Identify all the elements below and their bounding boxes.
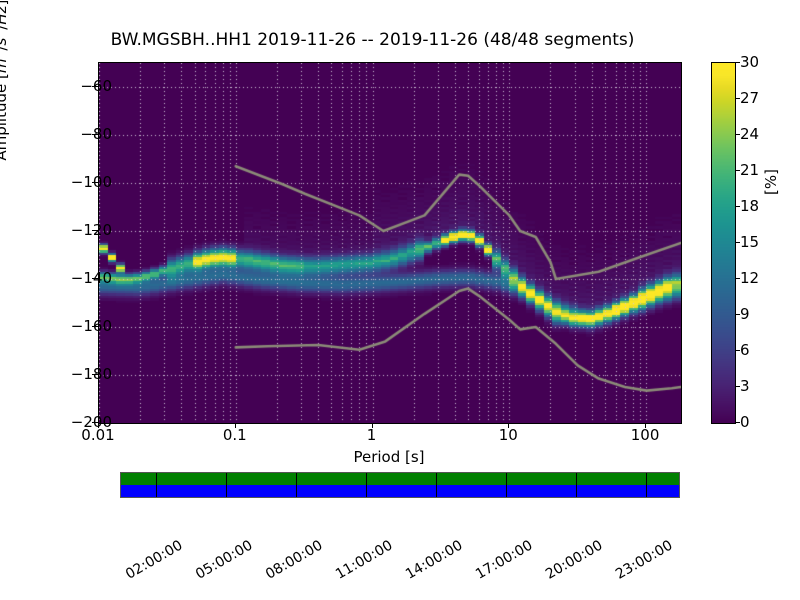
x-axis-tick-mark bbox=[372, 423, 373, 428]
timeline-tick-label: 20:00:00 bbox=[543, 537, 605, 582]
y-axis-tick-mark bbox=[92, 86, 98, 87]
y-axis-tick-mark bbox=[92, 182, 98, 183]
data-coverage-timeline[interactable] bbox=[120, 472, 680, 498]
timeline-tick-label: 05:00:00 bbox=[193, 537, 255, 582]
colorbar-tick-mark bbox=[735, 98, 740, 99]
colorbar-tick-mark bbox=[735, 206, 740, 207]
x-axis-tick-label: 0.1 bbox=[223, 426, 247, 444]
colorbar-tick-mark bbox=[735, 134, 740, 135]
noise-model-curves bbox=[99, 63, 681, 423]
timeline-tick-label: 11:00:00 bbox=[333, 537, 395, 582]
colorbar-tick-label: 15 bbox=[740, 233, 759, 251]
x-axis-tick-mark bbox=[235, 423, 236, 428]
y-axis-tick-mark bbox=[92, 326, 98, 327]
colorbar-tick-mark bbox=[735, 314, 740, 315]
colorbar-tick-label: 24 bbox=[740, 125, 759, 143]
colorbar-tick-label: 27 bbox=[740, 89, 759, 107]
colorbar-tick-label: 6 bbox=[740, 341, 750, 359]
timeline-tick-label: 08:00:00 bbox=[263, 537, 325, 582]
x-axis-tick-label: 10 bbox=[499, 426, 518, 444]
timeline-tick-mark bbox=[226, 473, 227, 497]
colorbar-tick-label: 0 bbox=[740, 413, 750, 431]
colorbar-tick-label: 30 bbox=[740, 53, 759, 71]
timeline-tick-label: 02:00:00 bbox=[123, 537, 185, 582]
timeline-psd-bar bbox=[121, 485, 679, 497]
timeline-tick-label: 17:00:00 bbox=[473, 537, 535, 582]
colorbar-gradient bbox=[712, 63, 735, 423]
x-axis-label: Period [s] bbox=[98, 448, 680, 466]
y-axis-tick-mark bbox=[92, 134, 98, 135]
timeline-tick-label: 14:00:00 bbox=[403, 537, 465, 582]
colorbar-tick-mark bbox=[735, 278, 740, 279]
y-axis-tick-mark bbox=[92, 374, 98, 375]
colorbar-label: [%] bbox=[762, 122, 780, 242]
timeline-data-bar bbox=[121, 473, 679, 485]
figure-title: BW.MGSBH..HH1 2019-11-26 -- 2019-11-26 (… bbox=[0, 30, 745, 50]
ppsd-figure: BW.MGSBH..HH1 2019-11-26 -- 2019-11-26 (… bbox=[0, 0, 800, 600]
x-axis-tick-label: 1 bbox=[367, 426, 377, 444]
colorbar-tick-mark bbox=[735, 350, 740, 351]
x-axis-tick-mark bbox=[645, 423, 646, 428]
timeline-tick-label: 23:00:00 bbox=[613, 537, 675, 582]
x-axis-tick-mark bbox=[508, 423, 509, 428]
timeline-tick-mark bbox=[576, 473, 577, 497]
y-axis-tick-mark bbox=[92, 230, 98, 231]
timeline-tick-mark bbox=[646, 473, 647, 497]
colorbar-tick-mark bbox=[735, 242, 740, 243]
colorbar-tick-mark bbox=[735, 62, 740, 63]
colorbar-tick-label: 12 bbox=[740, 269, 759, 287]
timeline-tick-mark bbox=[506, 473, 507, 497]
ppsd-axes bbox=[98, 62, 682, 424]
colorbar-tick-label: 9 bbox=[740, 305, 750, 323]
colorbar bbox=[711, 62, 736, 424]
timeline-tick-mark bbox=[436, 473, 437, 497]
y-axis-label: Amplitude [m2/s4/Hz] [dB] bbox=[0, 0, 10, 242]
colorbar-tick-label: 21 bbox=[740, 161, 759, 179]
colorbar-tick-mark bbox=[735, 386, 740, 387]
x-axis-tick-mark bbox=[98, 423, 99, 428]
x-axis-tick-label: 100 bbox=[631, 426, 660, 444]
colorbar-tick-label: 18 bbox=[740, 197, 759, 215]
timeline-tick-mark bbox=[296, 473, 297, 497]
colorbar-tick-label: 3 bbox=[740, 377, 750, 395]
timeline-tick-mark bbox=[366, 473, 367, 497]
colorbar-tick-mark bbox=[735, 170, 740, 171]
x-axis-tick-label: 0.01 bbox=[81, 426, 114, 444]
y-axis-tick-mark bbox=[92, 278, 98, 279]
timeline-tick-mark bbox=[156, 473, 157, 497]
colorbar-tick-mark bbox=[735, 422, 740, 423]
